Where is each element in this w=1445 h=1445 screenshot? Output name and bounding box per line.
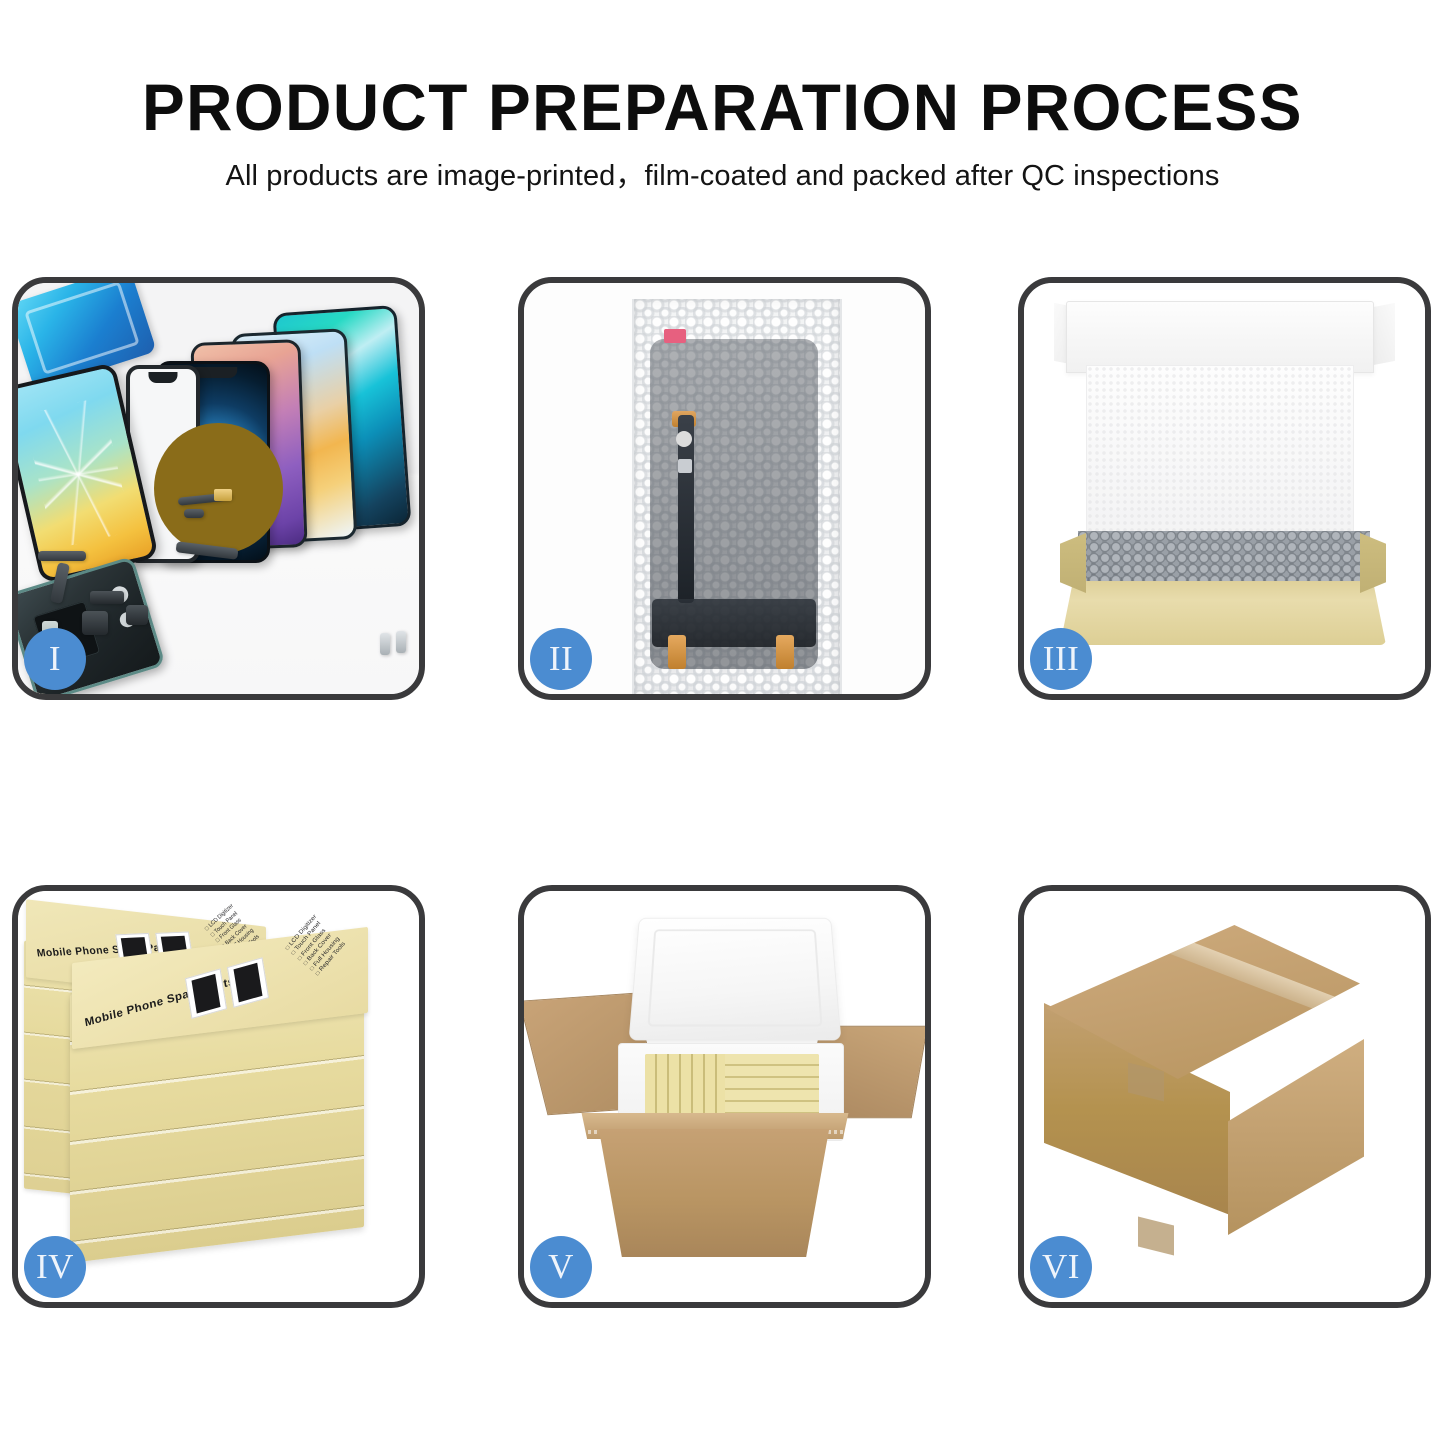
step-badge-4: IV — [24, 1236, 86, 1298]
foam-cooler-lid — [629, 918, 842, 1041]
carton-body — [586, 1129, 842, 1257]
bubble-wrap-sleeve — [632, 299, 842, 694]
box-lid — [1066, 301, 1374, 373]
retail-box-thumbnail-left — [185, 968, 227, 1019]
step-badge-1: I — [24, 628, 86, 690]
step-badge-3: III — [1030, 628, 1092, 690]
process-step-panel-4[interactable]: Mobile Phone Spare Parts LCD Digitizer T… — [12, 885, 425, 1308]
bubble-wrap-photo — [524, 283, 925, 694]
flex-cable-part — [184, 509, 204, 518]
small-component-part — [82, 611, 108, 635]
square-sticker — [678, 459, 692, 473]
process-step-panel-6[interactable]: VI — [1018, 885, 1431, 1308]
phone-parts-photo — [18, 283, 419, 694]
open-mailer-box-photo — [1024, 283, 1425, 694]
glass-notch — [148, 372, 177, 383]
small-component-part — [90, 591, 124, 604]
box-tray — [1060, 531, 1386, 645]
box-left-wall — [1060, 533, 1086, 593]
process-step-grid: I II — [0, 0, 1445, 1445]
carton-loading-photo — [524, 891, 925, 1302]
small-component-part — [126, 605, 148, 625]
retail-box-thumbnail-right — [227, 957, 269, 1008]
grey-bubble-padding — [1078, 531, 1370, 587]
box-lid-flap-right — [1373, 303, 1395, 365]
step-badge-5: V — [530, 1236, 592, 1298]
step-badge-6: VI — [1030, 1236, 1092, 1298]
process-step-panel-1[interactable]: I — [12, 277, 425, 700]
box-front-wall — [1060, 581, 1386, 645]
round-sticker — [676, 431, 692, 447]
process-step-panel-3[interactable]: III — [1018, 277, 1431, 700]
retail-box-stack-photo: Mobile Phone Spare Parts LCD Digitizer T… — [18, 891, 419, 1302]
process-step-panel-5[interactable]: V — [518, 885, 931, 1308]
step-badge-2: II — [530, 628, 592, 690]
screw-part — [396, 631, 406, 653]
gold-tab-left — [668, 635, 686, 669]
gold-connector-part — [214, 489, 232, 501]
flex-cable-part — [38, 551, 86, 561]
white-foam-sheet — [1086, 365, 1354, 539]
gold-tab-right — [776, 635, 794, 669]
sealed-carton-photo — [1024, 891, 1425, 1302]
screw-part — [380, 633, 390, 655]
pink-qc-label — [664, 329, 686, 343]
process-step-panel-2[interactable]: II — [518, 277, 931, 700]
box-right-wall — [1360, 533, 1386, 593]
